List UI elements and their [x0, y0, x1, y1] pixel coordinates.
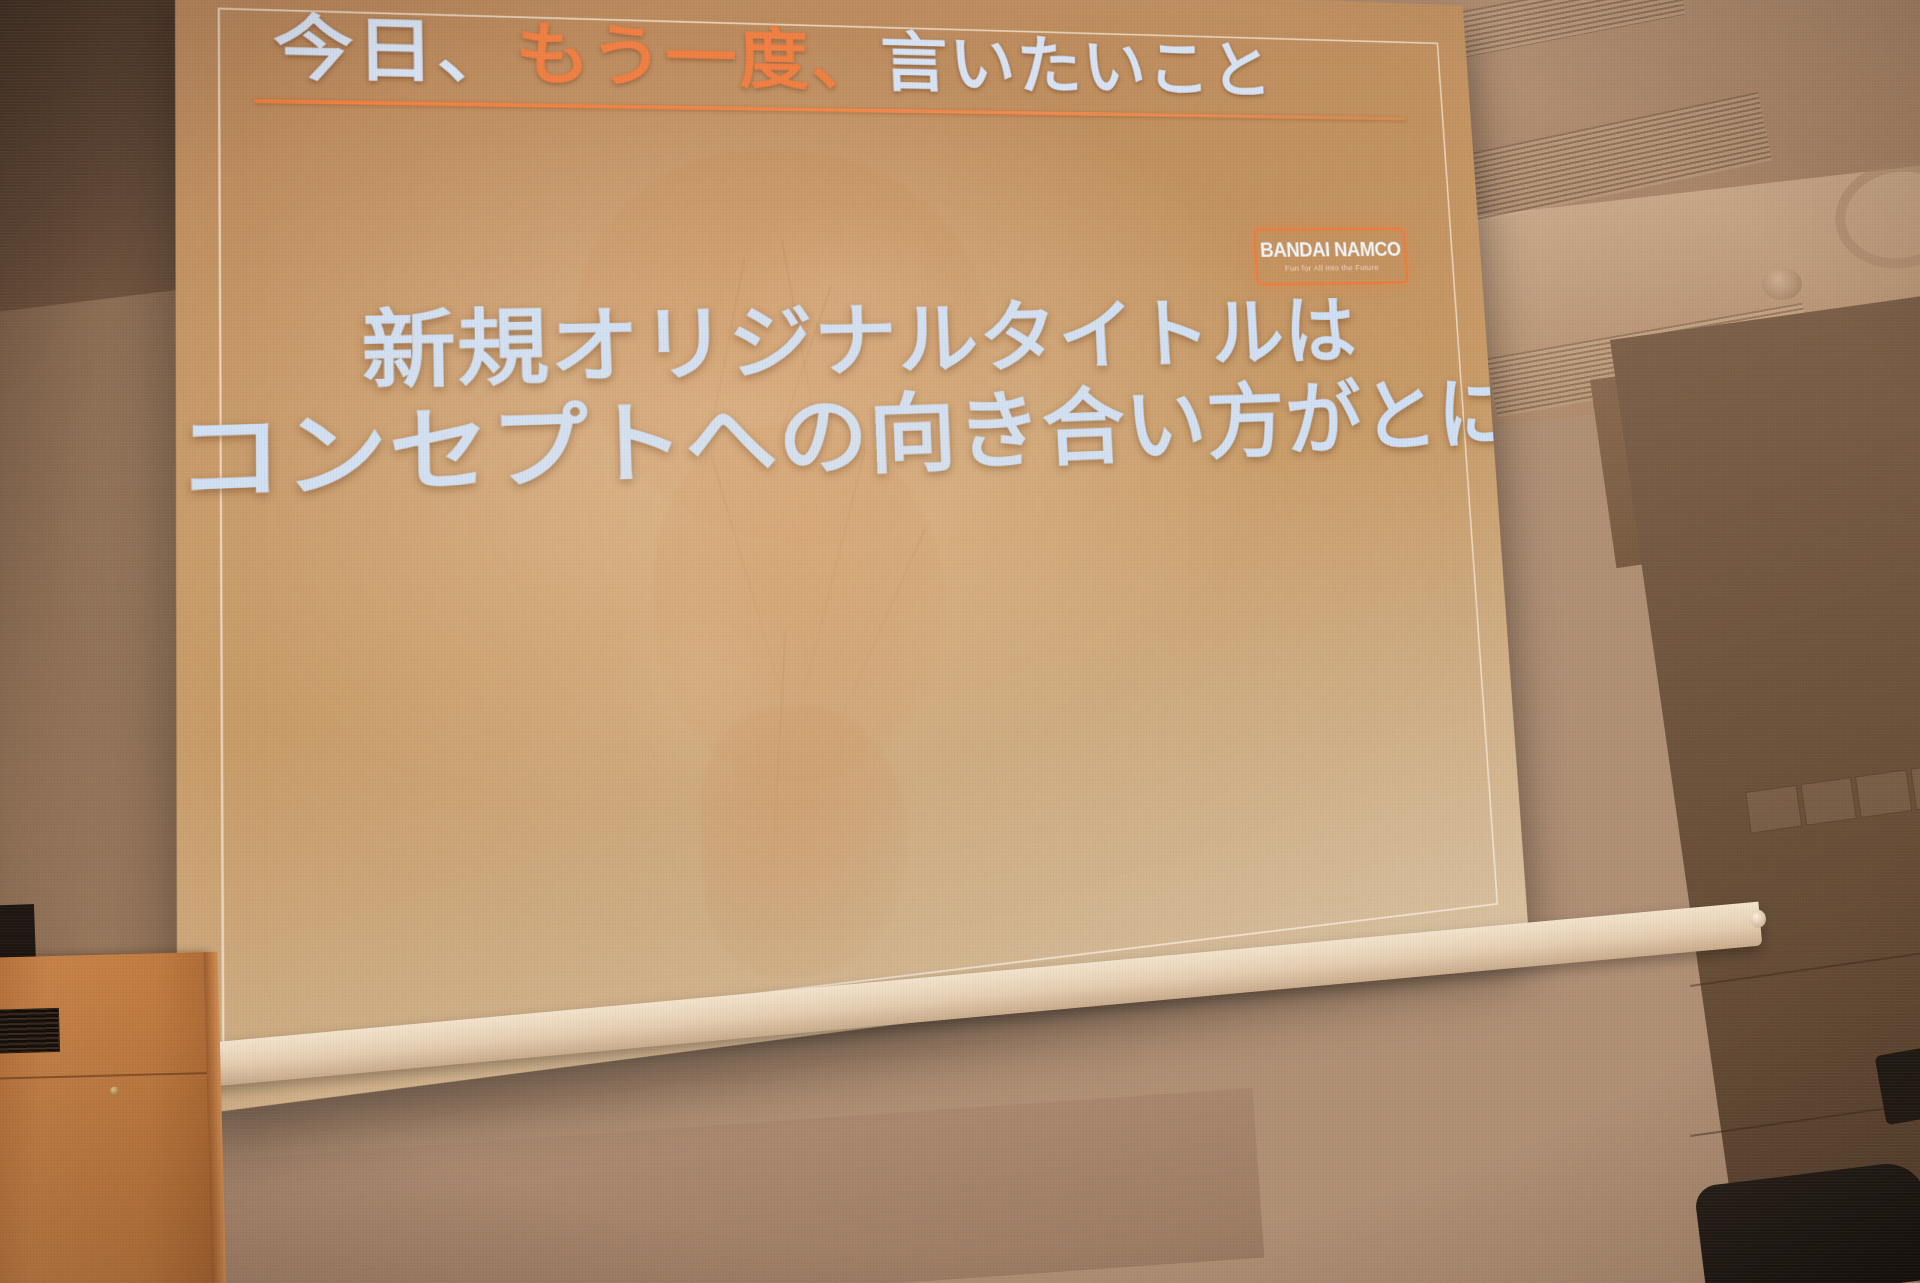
- podium: [0, 952, 214, 1283]
- bandai-namco-logo: BANDAI NAMCO Fun for All into the Future: [1253, 228, 1409, 286]
- podium-knob-icon: [110, 1086, 119, 1095]
- title-segment-2: もう一度、: [514, 15, 882, 98]
- projection-screen-area: 今日、もう一度、言いたいこと BANDAI NAMCO Fun for All …: [0, 0, 1920, 1283]
- slide-title: 今日、もう一度、言いたいこと: [273, 13, 1274, 102]
- slide-border-frame: [218, 8, 1499, 1060]
- title-segment-1: 今日、: [273, 8, 516, 92]
- title-segment-3: 言いたいこと: [879, 26, 1274, 106]
- logo-wordmark: BANDAI NAMCO: [1260, 240, 1402, 260]
- logo-tagline: Fun for All into the Future: [1285, 263, 1380, 273]
- speaker-grille-icon: [0, 1008, 60, 1054]
- roller-end-cap: [1749, 909, 1767, 928]
- conference-room-photo: 今日、もう一度、言いたいこと BANDAI NAMCO Fun for All …: [0, 0, 1920, 1283]
- podium-panel-seam: [0, 1072, 209, 1080]
